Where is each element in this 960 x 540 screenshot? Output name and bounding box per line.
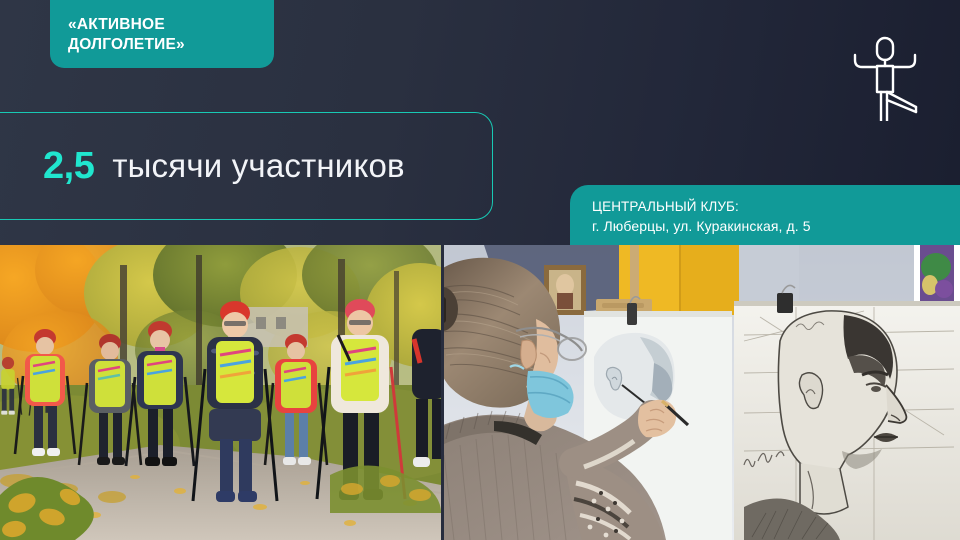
brand-badge: «АКТИВНОЕ ДОЛГОЛЕТИЕ» <box>50 0 274 68</box>
address-panel-title: ЦЕНТРАЛЬНЫЙ КЛУБ: <box>592 197 960 216</box>
stat-number: 2,5 <box>43 145 94 188</box>
address-panel-address: г. Люберцы, ул. Куракинская, д. 5 <box>592 216 960 236</box>
photo-strip <box>0 245 960 540</box>
address-panel: ЦЕНТРАЛЬНЫЙ КЛУБ: г. Люберцы, ул. Кураки… <box>570 185 960 246</box>
slide-root: «АКТИВНОЕ ДОЛГОЛЕТИЕ» 2,5 тысячи участни… <box>0 0 960 540</box>
brand-badge-label: «АКТИВНОЕ ДОЛГОЛЕТИЕ» <box>68 15 185 55</box>
participants-stat-box: 2,5 тысячи участников <box>0 112 493 220</box>
photo-drawing-class <box>444 245 960 540</box>
photo-nordic-walking <box>0 245 441 540</box>
yoga-figure-icon <box>848 33 922 121</box>
stat-label: тысячи участников <box>112 147 404 185</box>
